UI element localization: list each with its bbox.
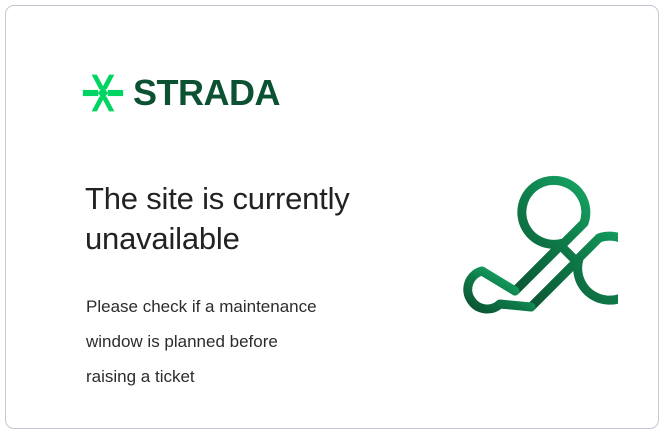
page-description-line-2: window is planned before: [86, 324, 416, 359]
page-description-line-1: Please check if a maintenance: [86, 289, 416, 324]
page-description-line-3: raising a ticket: [86, 359, 416, 394]
page-title-line-2: unavailable: [85, 219, 425, 259]
message-card: STRADA The site is currently unavailable…: [5, 5, 659, 429]
page-title: The site is currently unavailable: [85, 179, 425, 259]
brand-wordmark: STRADA: [133, 75, 280, 111]
page-description: Please check if a maintenance window is …: [86, 289, 416, 394]
brand-logo: STRADA: [82, 72, 280, 114]
asterisk-star-icon: [82, 72, 124, 114]
wrench-icon: [458, 154, 618, 319]
page-title-line-1: The site is currently: [85, 179, 425, 219]
error-page: STRADA The site is currently unavailable…: [0, 0, 666, 436]
